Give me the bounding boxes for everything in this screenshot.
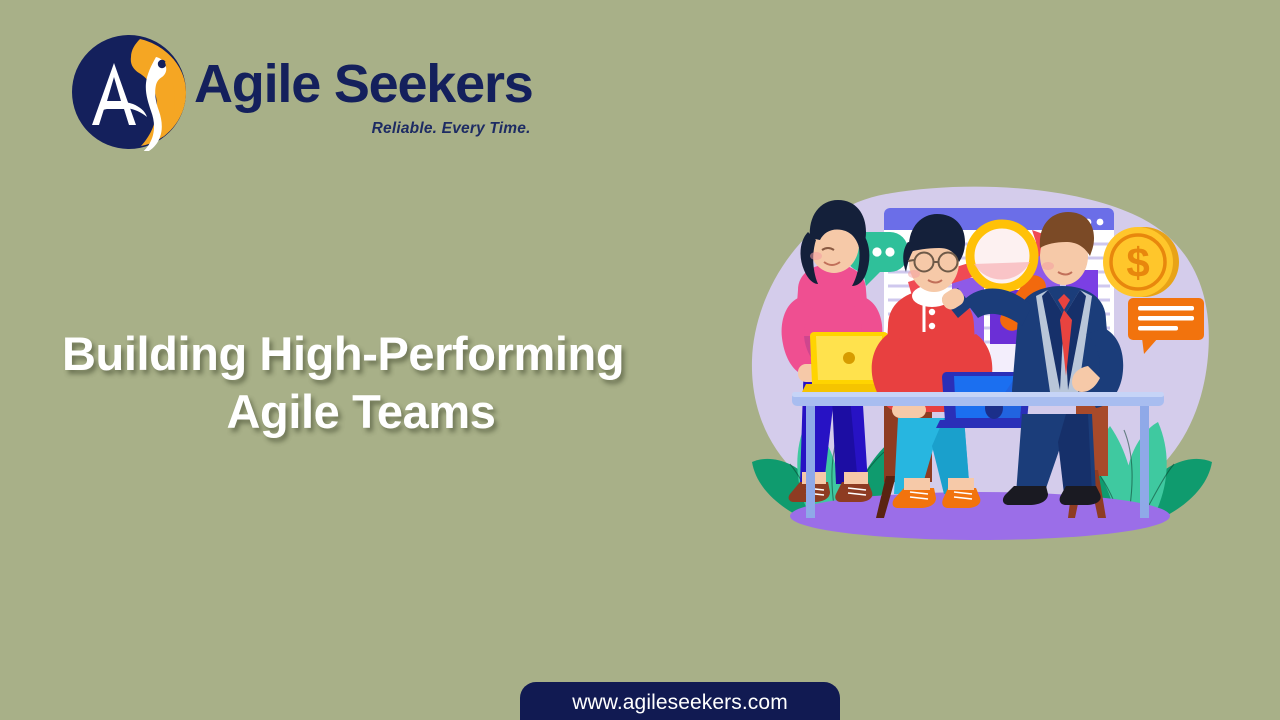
logo-wordmark: Agile Seekers [194, 57, 533, 111]
headline-line-1: Building High-Performing [62, 325, 682, 383]
page-title: Building High-Performing Agile Teams [62, 325, 682, 441]
dollar-coin-icon: $ [1103, 227, 1179, 297]
website-url-pill[interactable]: www.agileseekers.com [520, 682, 840, 720]
website-url-text: www.agileseekers.com [572, 691, 788, 715]
brand-logo[interactable]: Agile Seekers Reliable. Every Time. [70, 33, 533, 151]
logo-tagline: Reliable. Every Time. [372, 120, 531, 138]
agile-seekers-swan-monogram-icon [70, 33, 188, 151]
headline-line-2: Agile Teams [62, 383, 682, 441]
svg-text:$: $ [1126, 239, 1149, 286]
hero-illustration: $ [736, 186, 1224, 554]
slide-canvas: Agile Seekers Reliable. Every Time. Buil… [0, 0, 1280, 720]
